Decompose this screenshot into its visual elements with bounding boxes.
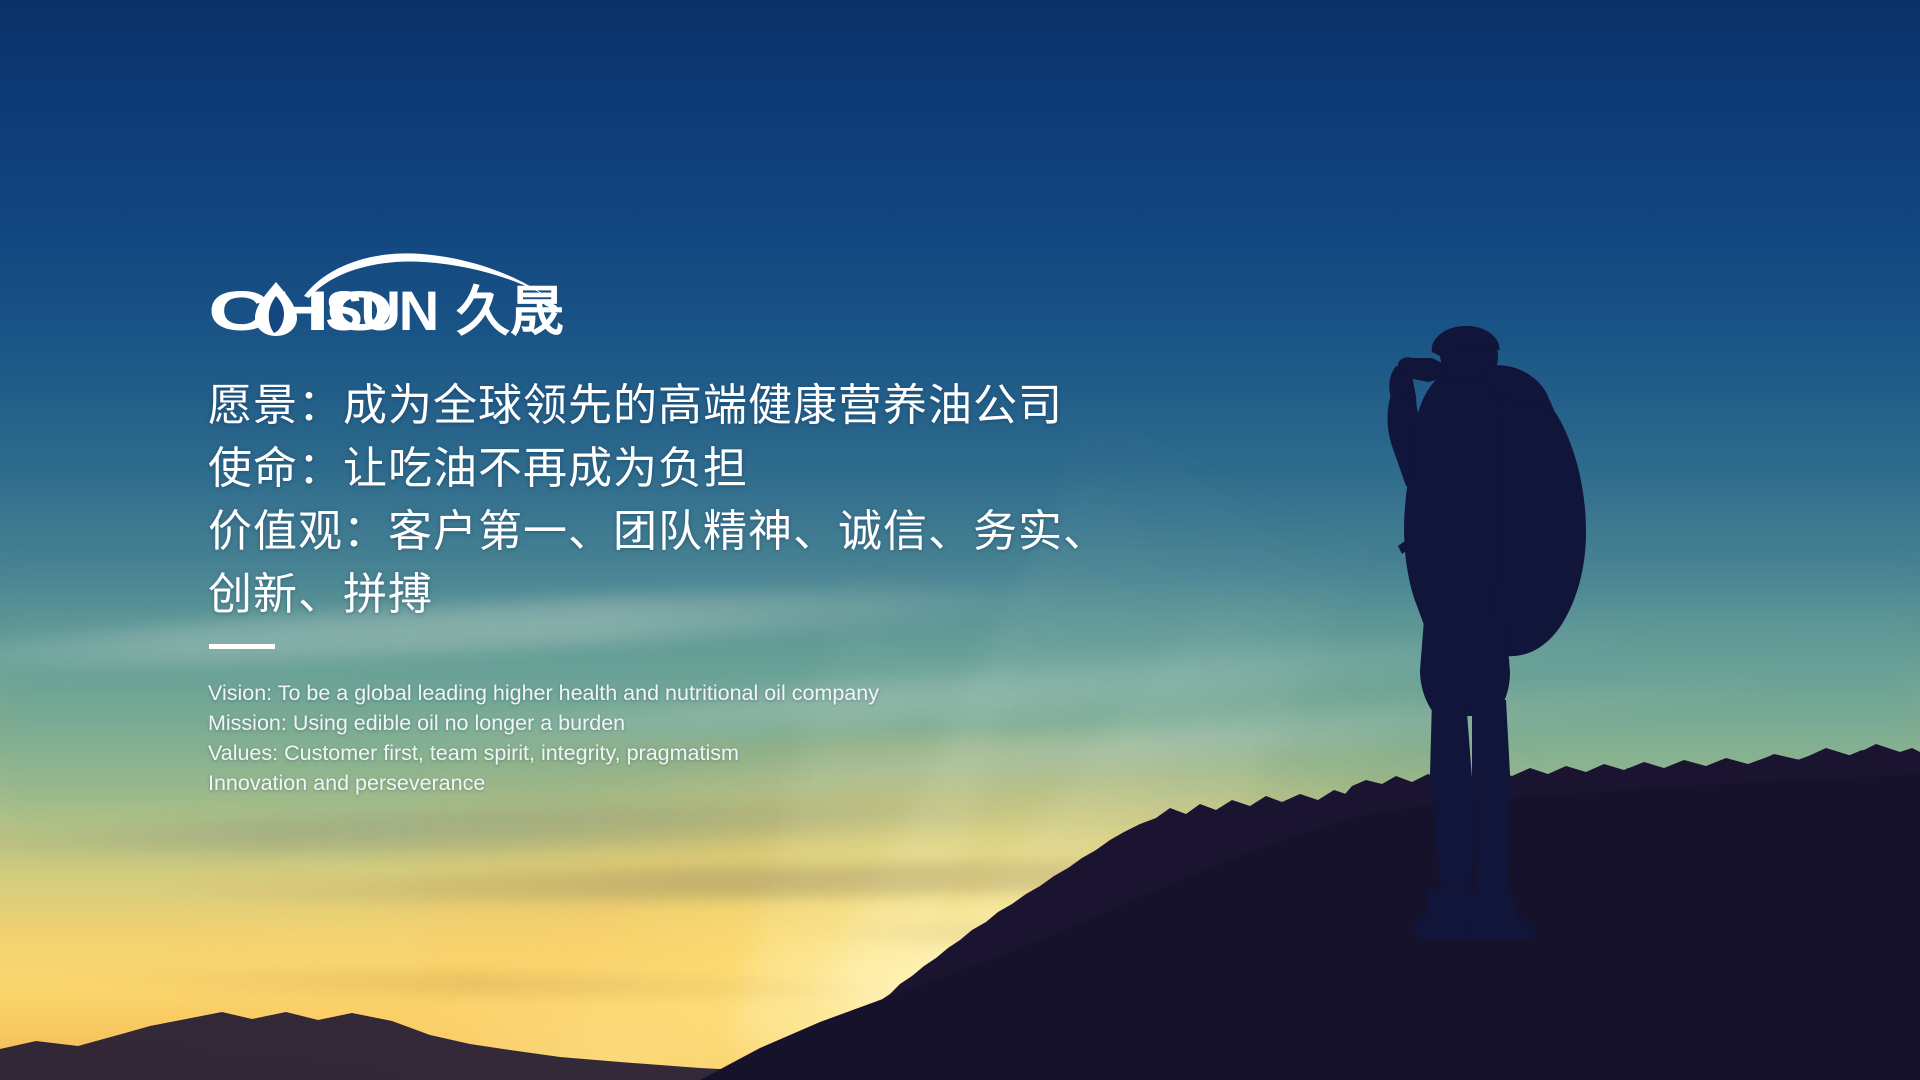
values-line-cn-2: 创新、拼搏 — [208, 563, 1108, 626]
values-line-cn: 价值观：客户第一、团队精神、诚信、务实、 — [208, 500, 1108, 563]
vision-line-cn: 愿景：成为全球领先的高端健康营养油公司 — [208, 374, 1108, 437]
section-divider — [209, 644, 275, 649]
logo-cn-text: 久晟 — [456, 280, 564, 340]
choisun-logo-svg: CHO ISUN 久晟 — [208, 248, 568, 340]
slide-canvas: CHO ISUN 久晟 愿景：成为全球领先的高端健康营养油公司 使命：让吃油不再… — [0, 0, 1920, 1080]
mission-line-en: Mission: Using edible oil no longer a bu… — [208, 708, 1108, 738]
mission-line-cn: 使命：让吃油不再成为负担 — [208, 437, 1108, 500]
logo-latin-text-2: ISUN — [312, 279, 437, 340]
values-line-en: Values: Customer first, team spirit, int… — [208, 738, 1108, 768]
values-line-en-2: Innovation and perseverance — [208, 768, 1108, 798]
vision-line-en: Vision: To be a global leading higher he… — [208, 678, 1108, 708]
english-statements: Vision: To be a global leading higher he… — [208, 678, 1108, 798]
hiker-right-leg — [1472, 700, 1510, 902]
backpack — [1490, 372, 1586, 656]
choisun-logo[interactable]: CHO ISUN 久晟 — [208, 248, 568, 340]
chinese-statements: 愿景：成为全球领先的高端健康营养油公司 使命：让吃油不再成为负担 价值观：客户第… — [208, 374, 1108, 626]
